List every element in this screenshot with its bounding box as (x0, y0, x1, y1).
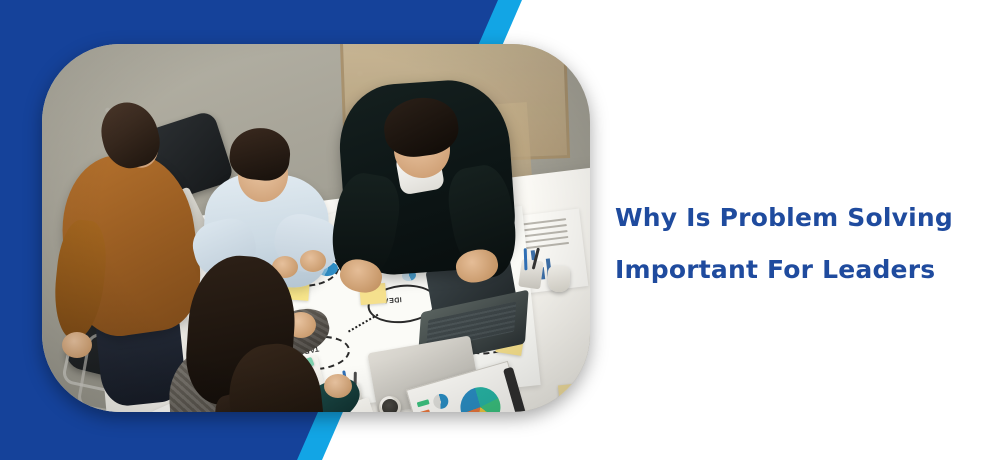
legend-bar (417, 399, 430, 407)
pie-chart-small (432, 392, 451, 411)
pen-holder (518, 259, 544, 290)
hand (324, 374, 352, 398)
pie-chart-large (456, 382, 505, 412)
photo-canvas: IDEA CLIENTS TARGET ANALYSIS PROCESS (42, 44, 590, 412)
paper-cup (548, 266, 570, 292)
hand (300, 250, 326, 272)
team-meeting-photo: IDEA CLIENTS TARGET ANALYSIS PROCESS (42, 44, 590, 412)
sticky-note (558, 383, 588, 408)
title-line-2: Important For Leaders (615, 244, 985, 296)
banner: IDEA CLIENTS TARGET ANALYSIS PROCESS (0, 0, 1000, 460)
page-title: Why Is Problem Solving Important For Lea… (615, 192, 985, 296)
legend-bar (419, 409, 430, 412)
coffee-cup (379, 396, 401, 412)
title-line-1: Why Is Problem Solving (615, 192, 985, 244)
hand (62, 332, 92, 358)
